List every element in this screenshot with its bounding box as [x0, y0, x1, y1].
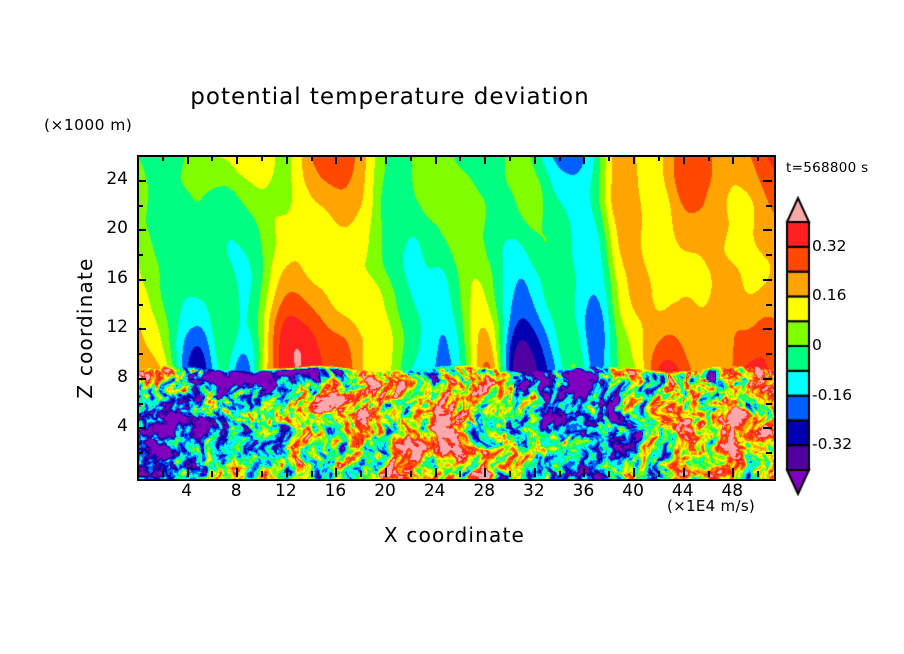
tick-mark [763, 180, 772, 182]
tick-mark [261, 471, 263, 477]
tick-mark [137, 254, 143, 256]
tick-mark [211, 471, 213, 477]
colorbar-label: -0.32 [812, 435, 852, 453]
tick-mark [763, 427, 772, 429]
tick-mark [763, 378, 772, 380]
tick-mark [137, 452, 143, 454]
tick-mark [137, 427, 146, 429]
tick-mark [732, 468, 734, 477]
tick-mark [484, 155, 486, 164]
tick-mark [137, 403, 143, 405]
tick-mark [360, 471, 362, 477]
tick-mark [261, 155, 263, 161]
colorbar-label: 0.16 [812, 286, 847, 304]
x-tick-label: 4 [167, 481, 207, 501]
tick-mark [766, 304, 772, 306]
tick-mark [509, 471, 511, 477]
tick-mark [435, 155, 437, 164]
tick-mark [583, 155, 585, 164]
tick-mark [658, 155, 660, 161]
tick-mark [766, 205, 772, 207]
tick-mark [435, 468, 437, 477]
tick-mark [708, 155, 710, 161]
contour-plot-area [137, 155, 776, 481]
tick-mark [187, 155, 189, 164]
tick-mark [658, 471, 660, 477]
y-tick-label: 4 [88, 416, 128, 436]
tick-mark [534, 155, 536, 164]
tick-mark [559, 471, 561, 477]
x-tick-label: 40 [613, 481, 653, 501]
tick-mark [708, 471, 710, 477]
y-axis-unit-label: (×1000 m) [44, 116, 132, 134]
tick-mark [335, 468, 337, 477]
temperature-deviation-field [139, 157, 774, 479]
x-tick-label: 36 [563, 481, 603, 501]
tick-mark [683, 155, 685, 164]
x-tick-label: 16 [315, 481, 355, 501]
tick-mark [757, 155, 759, 161]
x-tick-label: 12 [266, 481, 306, 501]
colorbar-label: 0 [812, 336, 822, 354]
tick-mark [360, 155, 362, 161]
tick-mark [763, 279, 772, 281]
tick-mark [162, 155, 164, 161]
tick-mark [410, 155, 412, 161]
x-tick-label: 28 [464, 481, 504, 501]
tick-mark [608, 471, 610, 477]
tick-mark [633, 155, 635, 164]
colorbar-label: -0.16 [812, 386, 852, 404]
tick-mark [763, 328, 772, 330]
tick-mark [683, 468, 685, 477]
colorbar [783, 196, 803, 486]
tick-mark [608, 155, 610, 161]
tick-mark [211, 155, 213, 161]
tick-mark [484, 468, 486, 477]
time-annotation: t=568800 s [786, 160, 868, 176]
colorbar-label: 0.32 [812, 237, 847, 255]
tick-mark [311, 155, 313, 161]
tick-mark [559, 155, 561, 161]
tick-mark [459, 155, 461, 161]
tick-mark [766, 452, 772, 454]
tick-mark [534, 468, 536, 477]
x-tick-label: 44 [663, 481, 703, 501]
y-tick-label: 16 [88, 268, 128, 288]
y-tick-label: 8 [88, 367, 128, 387]
tick-mark [236, 468, 238, 477]
x-tick-label: 32 [514, 481, 554, 501]
tick-mark [137, 304, 143, 306]
y-tick-label: 24 [88, 169, 128, 189]
figure-root: potential temperature deviation (×1000 m… [0, 0, 904, 654]
x-tick-label: 48 [712, 481, 752, 501]
x-axis-title: X coordinate [137, 523, 772, 547]
x-tick-label: 24 [415, 481, 455, 501]
tick-mark [509, 155, 511, 161]
tick-mark [311, 471, 313, 477]
tick-mark [137, 180, 146, 182]
tick-mark [633, 468, 635, 477]
tick-mark [335, 155, 337, 164]
tick-mark [766, 403, 772, 405]
tick-mark [732, 155, 734, 164]
tick-mark [410, 471, 412, 477]
tick-mark [385, 468, 387, 477]
tick-mark [137, 378, 146, 380]
tick-mark [286, 155, 288, 164]
y-tick-label: 12 [88, 317, 128, 337]
page-title: potential temperature deviation [0, 84, 780, 110]
tick-mark [236, 155, 238, 164]
tick-mark [385, 155, 387, 164]
tick-mark [187, 468, 189, 477]
y-tick-label: 20 [88, 218, 128, 238]
x-tick-label: 20 [365, 481, 405, 501]
tick-mark [766, 353, 772, 355]
tick-mark [137, 353, 143, 355]
x-tick-label: 8 [216, 481, 256, 501]
tick-mark [583, 468, 585, 477]
tick-mark [757, 471, 759, 477]
tick-mark [162, 471, 164, 477]
tick-mark [137, 205, 143, 207]
tick-mark [763, 229, 772, 231]
tick-mark [137, 229, 146, 231]
tick-mark [137, 328, 146, 330]
tick-mark [459, 471, 461, 477]
tick-mark [766, 254, 772, 256]
tick-mark [286, 468, 288, 477]
tick-mark [137, 279, 146, 281]
